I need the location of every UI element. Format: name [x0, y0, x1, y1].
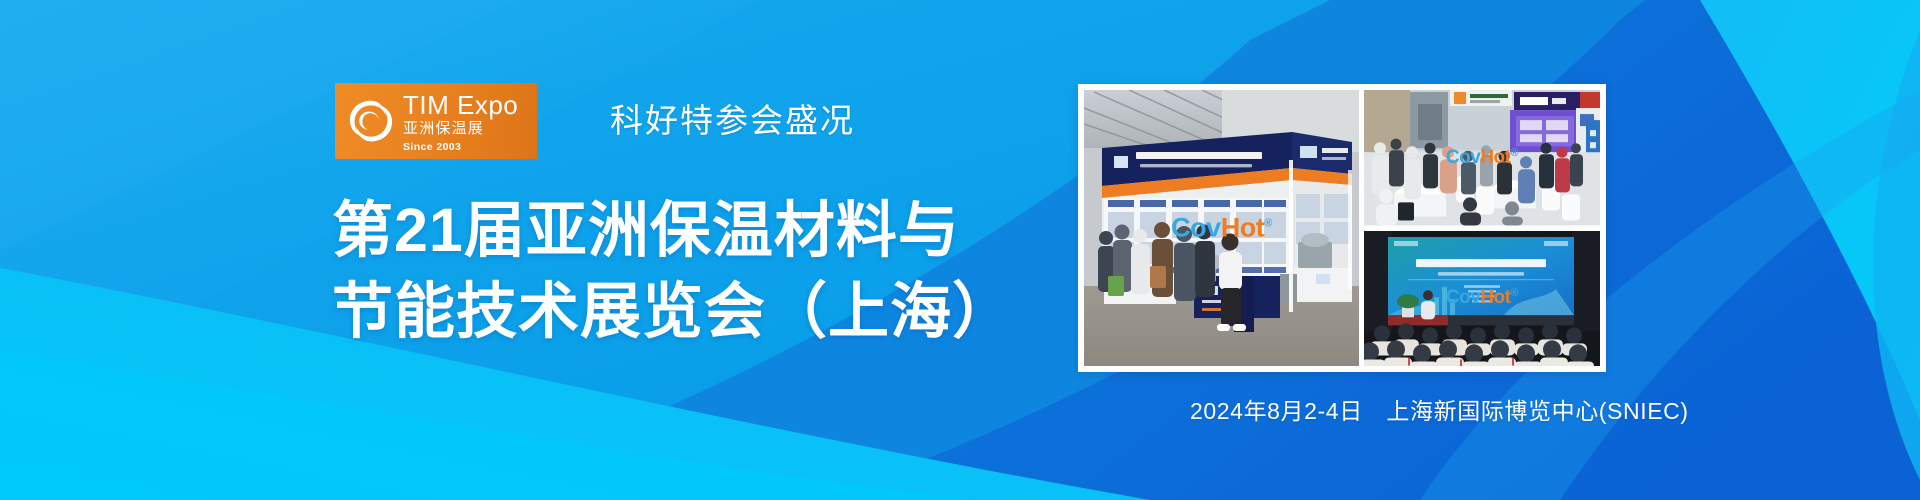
headline-line-2: 节能技术展览会（上海）: [332, 271, 1014, 352]
logo-title: TIM Expo: [403, 92, 518, 118]
tim-expo-logo[interactable]: TIM Expo 亚洲保温展 Since 2003: [335, 83, 537, 159]
forum-watermark: CovHot®: [1446, 287, 1518, 309]
tim-expo-swirl-icon: [346, 96, 396, 146]
hall-crowd-photo: CovHot®: [1364, 90, 1600, 226]
banner-headline: 第21届亚洲保温材料与 节能技术展览会（上海）: [332, 190, 1014, 352]
event-date-venue: 2024年8月2-4日 上海新国际博览中心(SNIEC): [1190, 392, 1689, 426]
exhibition-banner: TIM Expo 亚洲保温展 Since 2003 科好特参会盛况 第21届亚洲…: [0, 0, 1920, 500]
banner-left-content: TIM Expo 亚洲保温展 Since 2003 科好特参会盛况 第21届亚洲…: [0, 0, 1060, 500]
forum-photo: CovHot®: [1364, 231, 1600, 367]
headline-line-1: 第21届亚洲保温材料与: [332, 190, 1014, 271]
collage-right-column: CovHot®: [1364, 90, 1600, 366]
logo-since: Since 2003: [403, 142, 518, 153]
photo-collage: CovHot®: [1078, 84, 1606, 372]
logo-subtitle: 亚洲保温展: [403, 121, 518, 136]
booth-photo: CovHot®: [1084, 90, 1359, 366]
hall-crowd-watermark: CovHot®: [1446, 147, 1518, 169]
banner-subtitle: 科好特参会盛况: [610, 94, 855, 142]
booth-watermark: CovHot®: [1171, 213, 1272, 244]
